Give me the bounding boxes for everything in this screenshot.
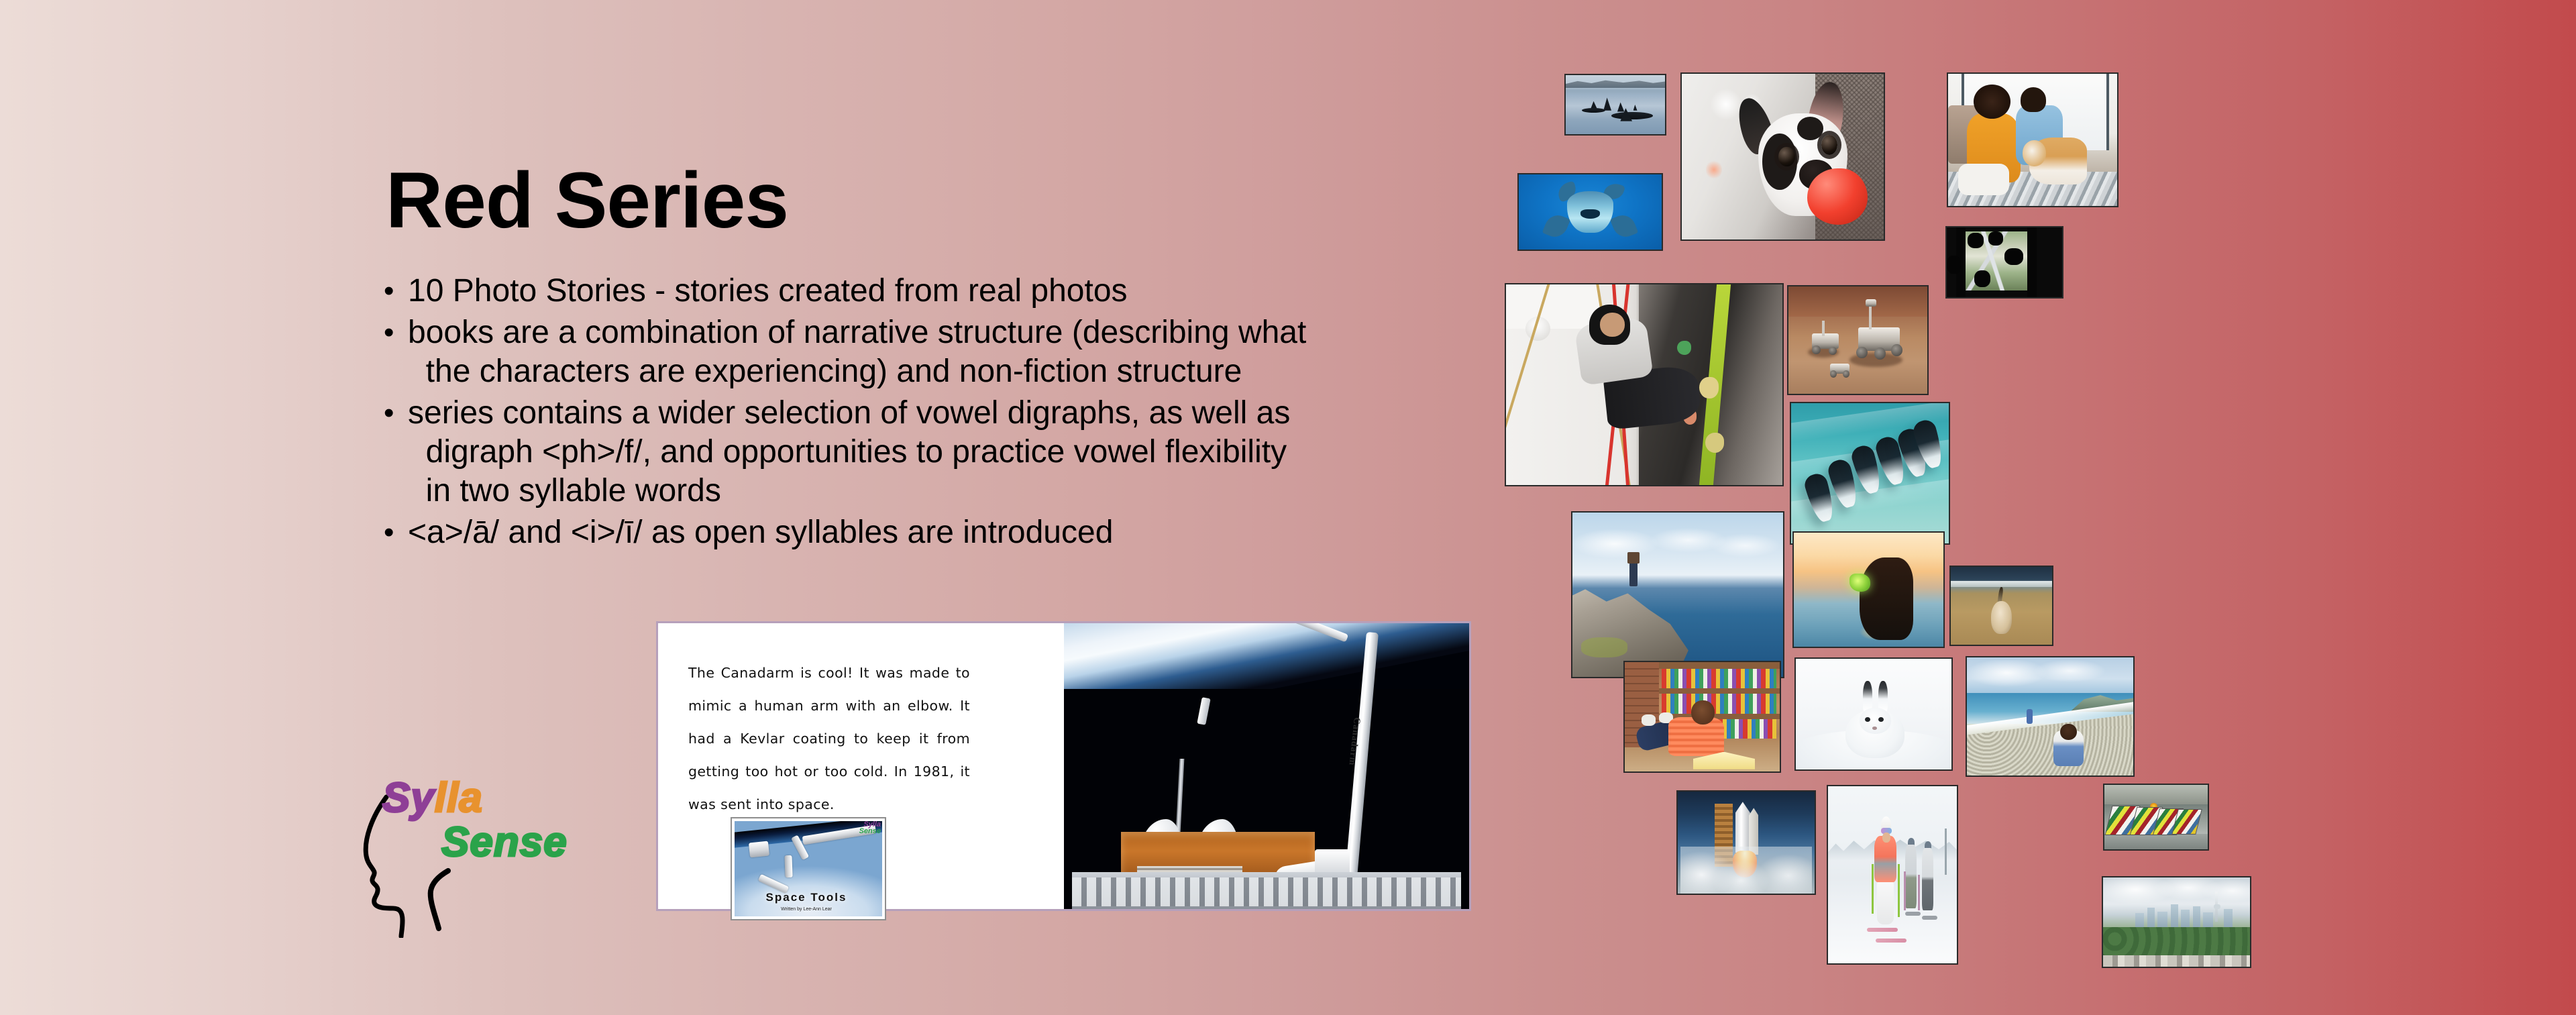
collage-photo-orcas-aerial (1790, 402, 1950, 545)
collage-photo-shuttle-launch (1676, 790, 1816, 895)
collage-photo-sea-glass (1792, 531, 1945, 648)
book-cover-thumbnail: Sylla Sense Space Tools Written by Lee-A… (731, 817, 886, 920)
collage-photo-rock-climber (1505, 283, 1784, 486)
book-cover-logo-line-two: Sense (859, 828, 881, 835)
collage-photo-orca-pod (1564, 74, 1666, 136)
collage-photo-boy-reading (1623, 661, 1781, 773)
collage-photo-children-with-corgi (1947, 72, 2118, 207)
collage-photo-cliff-photographer (1571, 511, 1784, 678)
collage-photo-toronto-skyline (2102, 876, 2251, 968)
photo-collage (0, 0, 2576, 1015)
collage-photo-puppy-with-toy (1680, 72, 1885, 241)
collage-photo-brown-hare (1949, 566, 2053, 646)
collage-photo-snow-hare (1794, 657, 1953, 771)
book-cover-title: Space Tools (732, 891, 881, 904)
collage-photo-mars-rovers (1787, 285, 1929, 395)
collage-photo-children-beach (1966, 656, 2135, 777)
collage-photo-skiers (1827, 785, 1958, 965)
book-cover-logo: Sylla Sense (859, 821, 881, 835)
collage-photo-glass-floor-view (1945, 226, 2063, 299)
collage-photo-dolphin (1517, 173, 1663, 251)
book-cover-author: Written by Lee-Ann Lear (732, 907, 881, 912)
collage-photo-printing-press (2103, 784, 2209, 851)
